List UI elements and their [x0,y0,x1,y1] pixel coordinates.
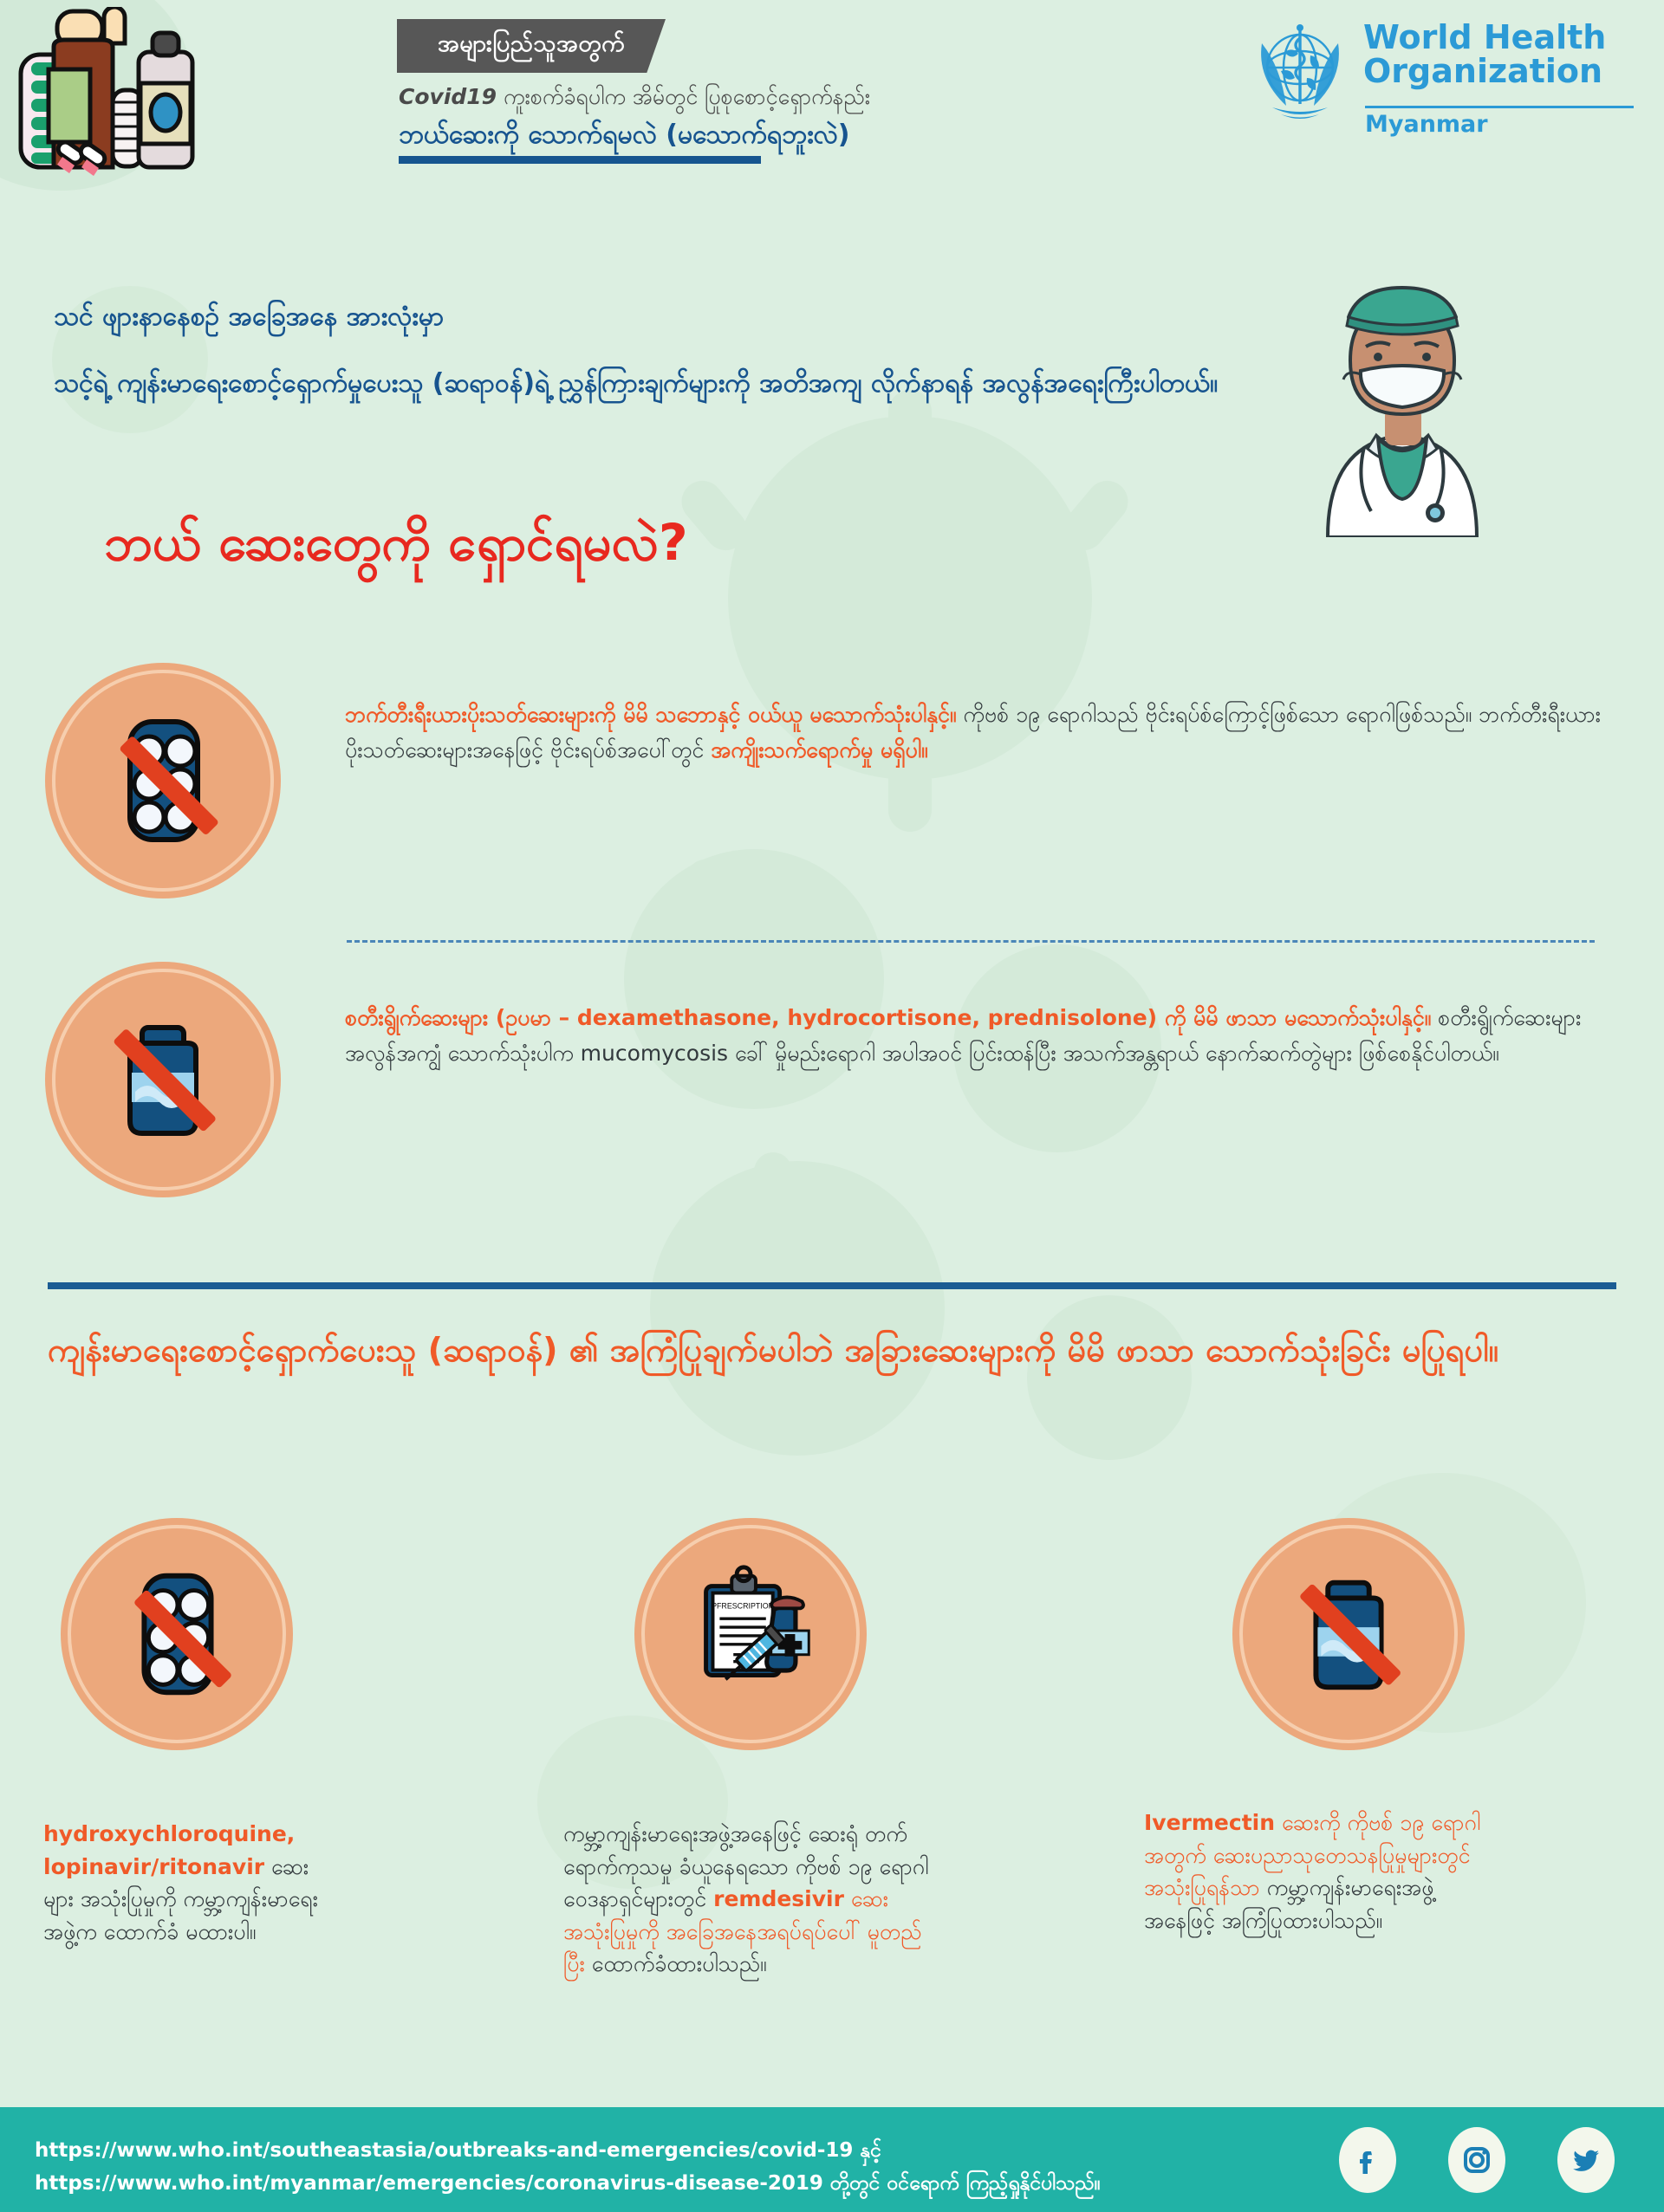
who-line-1: World Health [1363,21,1606,55]
twitter-glyph [1557,2127,1615,2193]
avoid-item-text-1: ဘက်တီးရီးယားပိုးသတ်ဆေးများကို မိမိ သဘောန… [345,697,1621,768]
who-divider [1365,106,1634,108]
icon-art [1232,1518,1465,1750]
icon-art [61,1518,293,1750]
prescription-label: PFRESCRIPTION [712,1601,774,1610]
medicine-bottle-crossed-out-icon [45,962,281,1197]
avoid-1-part-2: အကျိုးသက်ရောက်မှု မရှိပါ။ [711,737,927,762]
doctor-with-mask-icon [1274,277,1525,537]
who-emblem-icon [1246,17,1355,126]
footer-url-2[interactable]: https://www.who.int/myanmar/emergencies/… [35,2172,823,2195]
section-separator [48,1282,1616,1289]
column-1-caption: hydroxychloroquine, lopinavir/ritonavir … [43,1818,329,1948]
who-country-label: Myanmar [1365,111,1488,138]
header-tab-label: အများပြည်သူအတွက် [397,19,666,73]
header-subtitle: Covid19 ကူးစက်ခံရပါက အိမ်တွင် ပြုစုစောင့… [399,83,870,115]
who-line-2: Organization [1363,55,1606,88]
who-logo: World Health Organization Myanmar [1246,17,1645,143]
medicine-bottles-and-pills-icon [9,7,373,176]
intro-line-2: သင့်ရဲ့ ကျန်းမာရေးစောင့်ရှောက်မှုပေးသူ (… [54,364,1241,405]
column-2-caption: ကမ္ဘာ့ကျန်းမာရေးအဖွဲ့အနေဖြင့် ဆေးရုံ တက်… [563,1818,936,1981]
icon-art [45,962,281,1197]
footer-url-2-suffix: တို့တွင် ဝင်ရောက် ကြည့်ရှုနိုင်ပါသည်။ [823,2172,1101,2195]
facebook-icon[interactable] [1339,2127,1396,2193]
dashed-separator [347,940,1595,943]
blister-pack-crossed-out-icon [45,663,281,898]
footer-url-1[interactable]: https://www.who.int/southeastasia/outbre… [35,2139,853,2162]
column-2-part-3: ထောက်ခံထားပါသည်။ [585,1951,767,1976]
twitter-icon[interactable] [1557,2127,1615,2193]
intro-line-1: သင် ဖျားနာနေစဉ် အခြေအနေ အားလုံးမှာ [54,299,444,338]
header-subtitle-rest: ကူးစက်ခံရပါက အိမ်တွင် ပြုစုစောင့်ရှောက်န… [497,84,870,109]
who-name: World Health Organization [1363,21,1606,88]
footer-link-2[interactable]: https://www.who.int/myanmar/emergencies/… [35,2170,1101,2200]
footer-url-1-suffix: နှင့် [853,2139,881,2162]
avoid-1-part-0: ဘက်တီးရီးယားပိုးသတ်ဆေးများကို မိမိ သဘောန… [345,702,956,727]
column-3-caption: Ivermectin ဆေးကို ကိုဗစ် ၁၉ ရောဂါ အတွက် … [1144,1807,1508,1936]
instagram-glyph [1448,2127,1505,2193]
column-2-drug-name: remdesivir [713,1886,844,1911]
icon-art [45,663,281,898]
column-1-drug-names: hydroxychloroquine, lopinavir/ritonavir [43,1821,295,1879]
big-question-heading: ဘယ် ဆေးတွေကို ရှောင်ရမလဲ? [104,511,688,585]
column-3-medicine-bottle-crossed-out-icon [1232,1518,1465,1750]
avoid-2-part-0: စတီးရွိုက်ဆေးများ (ဥပမာ – dexamethasone,… [345,1005,1431,1030]
facebook-glyph [1339,2127,1396,2193]
column-2-prescription-syringe-bottle-icon: PFRESCRIPTION [634,1518,867,1750]
instagram-icon[interactable] [1448,2127,1505,2193]
footer-link-1[interactable]: https://www.who.int/southeastasia/outbre… [35,2137,881,2167]
avoid-item-text-2: စတီးရွိုက်ဆေးများ (ဥပမာ – dexamethasone,… [345,1001,1621,1071]
header-rule [399,156,761,164]
section-heading: ကျန်းမာရေးစောင့်ရှောက်ပေးသူ (ဆရာဝန်) ၏ အ… [48,1324,1616,1376]
column-1-blister-pack-crossed-out-icon [61,1518,293,1750]
infographic-page: အများပြည်သူအတွက် Covid19 ကူးစက်ခံရပါက အိ… [0,0,1664,2212]
column-3-drug-name: Ivermectin [1144,1810,1275,1835]
header-subtitle-prefix: Covid19 [399,84,497,109]
icon-art: PFRESCRIPTION [634,1518,867,1750]
header-title: ဘယ်ဆေးကို သောက်ရမလဲ (မသောက်ရဘူးလဲ) [399,117,850,156]
